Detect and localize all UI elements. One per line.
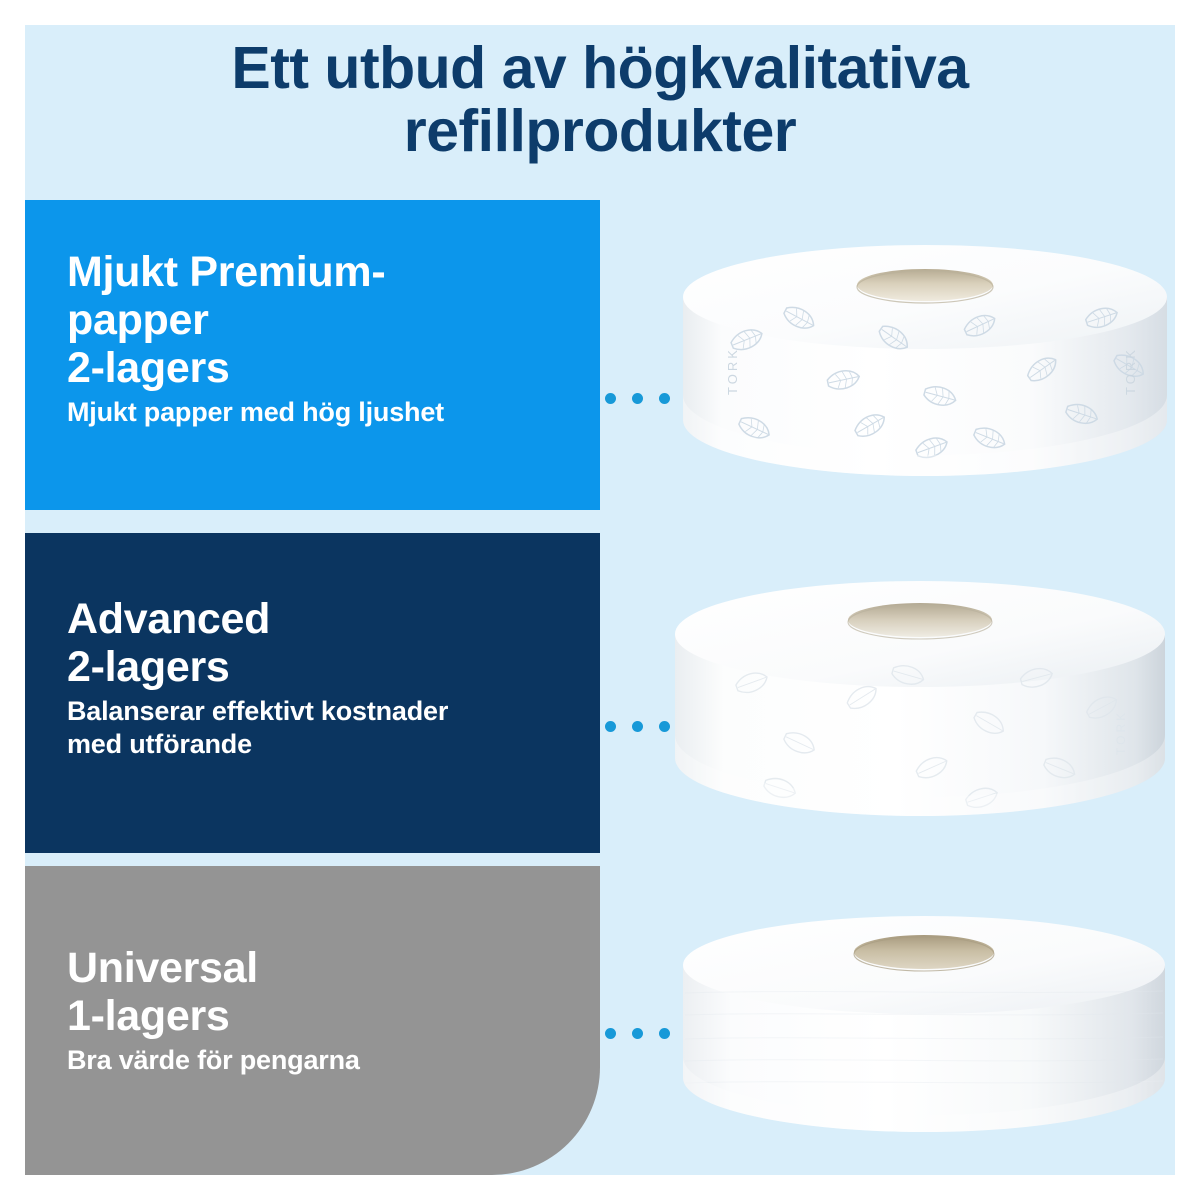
page-title-line1: Ett utbud av högkvalitativa xyxy=(231,35,968,101)
connector-dot xyxy=(632,721,643,732)
connector-dot xyxy=(659,393,670,404)
product-subtitle-universal: Bra värde för pengarna xyxy=(67,1044,570,1076)
connector-dot xyxy=(632,393,643,404)
roll-brand-text: TORK xyxy=(1114,710,1128,755)
product-panel-universal[interactable]: Universal 1-lagers Bra värde för pengarn… xyxy=(25,866,600,1175)
product-image-universal-roll xyxy=(673,915,1173,1160)
product-subtitle-advanced-line1: Balanserar effektivt kostnader xyxy=(67,696,448,726)
product-title-premium-line3: 2-lagers xyxy=(67,344,230,392)
product-title-universal: Universal 1-lagers xyxy=(67,944,570,1040)
infographic-canvas: Ett utbud av högkvalitativa refillproduk… xyxy=(25,25,1175,1175)
product-title-premium-line1: Mjukt Premium- xyxy=(67,248,385,296)
product-title-advanced-line1: Advanced xyxy=(67,595,270,643)
product-title-advanced-line2: 2-lagers xyxy=(67,643,230,691)
product-subtitle-advanced-line2: med utförande xyxy=(67,729,252,759)
connector-dot xyxy=(605,1028,616,1039)
product-title-universal-line1: Universal xyxy=(67,944,258,992)
product-image-premium-roll: TORK TORK xyxy=(675,245,1175,505)
roll-brand-text: TORK xyxy=(725,347,740,395)
product-title-advanced: Advanced 2-lagers xyxy=(67,595,570,691)
product-panel-premium[interactable]: Mjukt Premium- papper 2-lagers Mjukt pap… xyxy=(25,200,600,510)
product-panel-advanced-content: Advanced 2-lagers Balanserar effektivt k… xyxy=(67,595,570,760)
product-title-premium-line2: papper xyxy=(67,296,209,344)
connector-dot xyxy=(605,721,616,732)
connector-dot xyxy=(659,1028,670,1039)
product-subtitle-advanced: Balanserar effektivt kostnader med utför… xyxy=(67,695,570,760)
infographic-root: Ett utbud av högkvalitativa refillproduk… xyxy=(0,0,1200,1200)
page-title-line2: refillprodukter xyxy=(25,100,1175,163)
product-panel-premium-content: Mjukt Premium- papper 2-lagers Mjukt pap… xyxy=(67,248,570,429)
product-image-advanced-roll: TORK xyxy=(665,580,1175,845)
connector-dot xyxy=(605,393,616,404)
product-panel-advanced[interactable]: Advanced 2-lagers Balanserar effektivt k… xyxy=(25,533,600,853)
connector-dot xyxy=(632,1028,643,1039)
product-title-universal-line2: 1-lagers xyxy=(67,992,230,1040)
product-subtitle-premium: Mjukt papper med hög ljushet xyxy=(67,396,570,428)
roll-brand-text: TORK xyxy=(1123,347,1138,395)
page-title: Ett utbud av högkvalitativa refillproduk… xyxy=(25,37,1175,163)
product-title-premium: Mjukt Premium- papper 2-lagers xyxy=(67,248,570,392)
product-panel-universal-content: Universal 1-lagers Bra värde för pengarn… xyxy=(67,944,570,1077)
